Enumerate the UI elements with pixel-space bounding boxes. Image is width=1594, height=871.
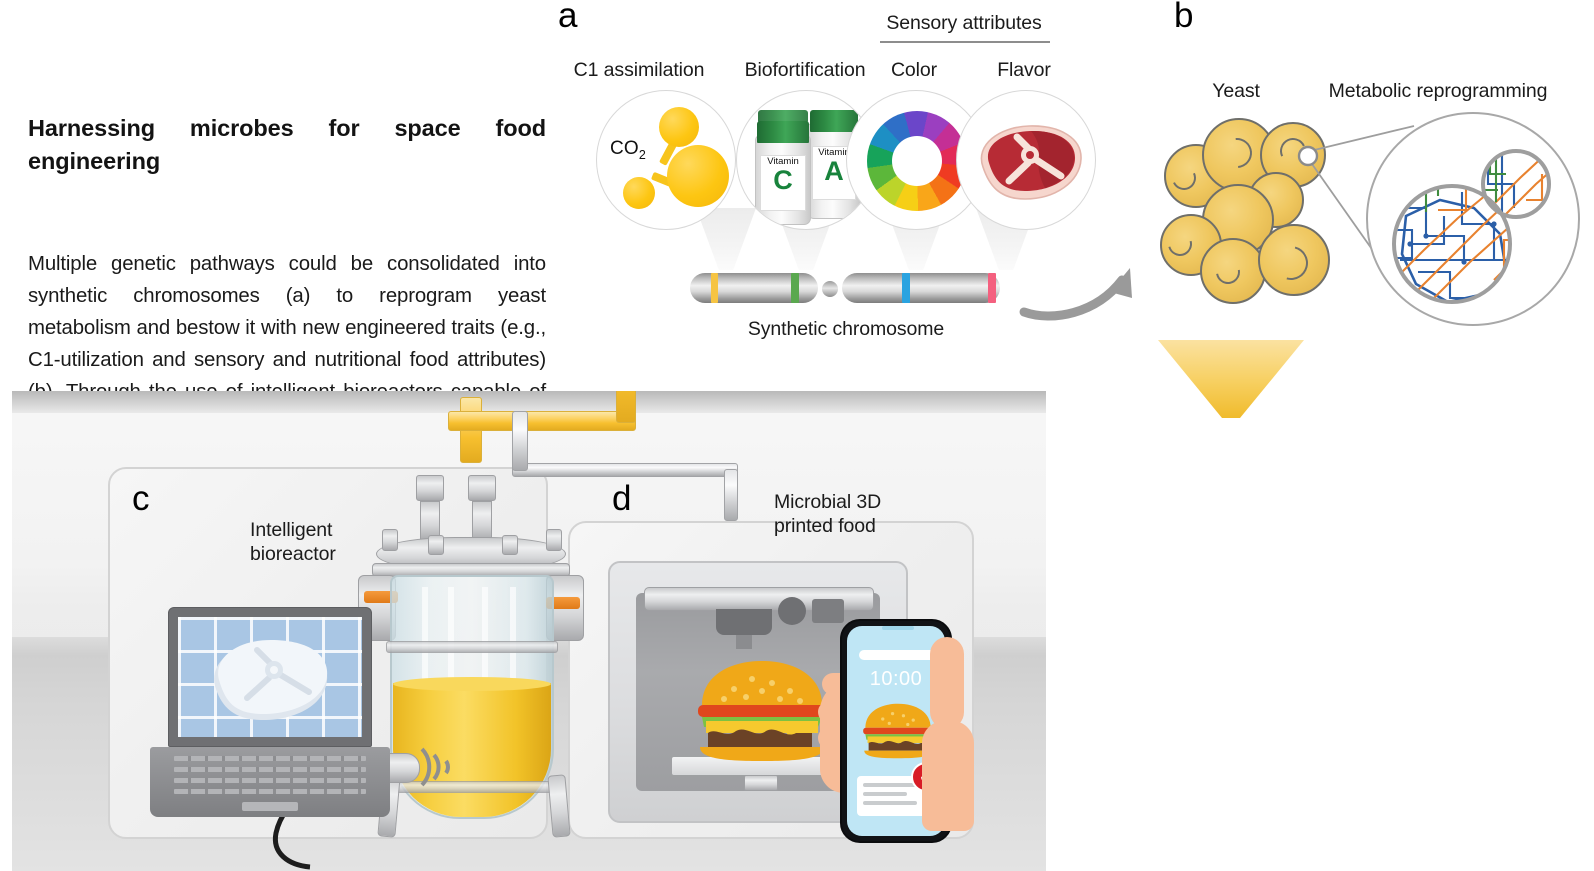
reactor-band-upper [386,641,558,653]
laptop-screen [168,607,372,747]
hand-thumb [930,637,964,729]
sensory-attributes-rule [880,41,1050,43]
icon-label-flavor: Flavor [997,59,1051,83]
process-arrow-icon [1018,230,1158,330]
color-wheel-icon [867,111,967,211]
phone-notch [882,626,914,630]
yeast-label: Yeast [1212,80,1260,104]
intelligent-bioreactor [364,475,610,847]
feed-pipe-horizontal [448,411,636,431]
icon-label-color: Color [891,59,937,83]
metabolic-network-map [1366,112,1580,326]
sensory-attributes-header: Sensory attributes [886,12,1041,36]
vitamin-c-letter: C [773,168,793,193]
steak-icon [969,119,1087,205]
synthetic-chromosome [690,268,1000,308]
printer-dial[interactable] [778,597,806,625]
intelligent-bioreactor-label-2: bioreactor [250,543,336,567]
chromosome-caption: Synthetic chromosome [748,318,944,342]
page-title: Harnessing microbes for space food engin… [28,112,546,179]
co2-molecule-icon: CO2 [610,138,646,162]
reactor-port-left [416,475,444,501]
lab-scene: c d Intelligent bioreactor Microbial 3D … [12,391,1046,871]
reactor-port-right [468,475,496,501]
figure-slide: Harnessing microbes for space food engin… [0,0,1594,871]
exhaust-pipe-vertical-right [724,469,738,521]
reactor-port-right-stem [472,501,492,541]
icon-circle-c1-assimilation: CO2 [596,90,736,230]
laptop-trackpad[interactable] [242,802,298,811]
laptop-with-food-model[interactable] [140,607,398,837]
steak-3d-model-icon [205,630,337,728]
scene-ceiling-strip [12,391,1046,413]
chromosome-centromere [822,281,838,297]
feed-pipe-vertical-down [616,391,636,423]
chromosome-band-color [902,273,910,303]
icon-label-c1-assimilation: C1 assimilation [574,59,705,83]
intelligent-bioreactor-label-1: Intelligent [250,519,332,543]
panel-letter-d: d [612,481,631,516]
printer-nozzle [736,635,752,649]
microbial-3d-food-label-2: printed food [774,515,876,539]
metabolic-reprogramming-label: Metabolic reprogramming [1329,80,1548,104]
reactor-bolt-4 [546,529,562,551]
burger-printed-food-icon [694,659,830,763]
co2-atom-top [659,107,699,147]
wireless-signal-icon [414,737,464,797]
co2-atom-center [667,145,729,207]
icon-label-biofortification: Biofortification [745,59,866,83]
chromosome-arm-right [842,273,1000,303]
panel-letter-b: b [1174,0,1193,33]
microbial-3d-food-label-1: Microbial 3D [774,491,881,515]
phone-search-bar[interactable] [859,650,937,660]
chromosome-band-flavor [988,273,996,303]
printer-bed-mount [744,775,778,791]
exhaust-pipe-vertical-left [512,411,528,471]
panel-letter-c: c [132,481,150,516]
reactor-bolt-1 [382,529,398,551]
vitamin-a-letter: A [824,159,844,184]
printer-display [812,599,844,623]
laptop-base [150,747,390,817]
printer-extruder-head [716,609,772,635]
panel-letter-a: a [558,0,577,33]
reactor-bolt-2 [428,535,444,555]
co2-atom-left [623,177,655,209]
reactor-bolt-3 [502,535,518,555]
reactor-leg-right [547,774,570,837]
hand-back [922,721,974,831]
biomass-funnel-icon [1156,338,1306,432]
reactor-liquid-surface [393,677,551,691]
icon-circle-flavor [956,90,1096,230]
vitamin-bottle-c: Vitamin C [755,135,811,225]
chromosome-band-biofortification [791,273,799,303]
chromosome-band-c1 [711,273,718,303]
